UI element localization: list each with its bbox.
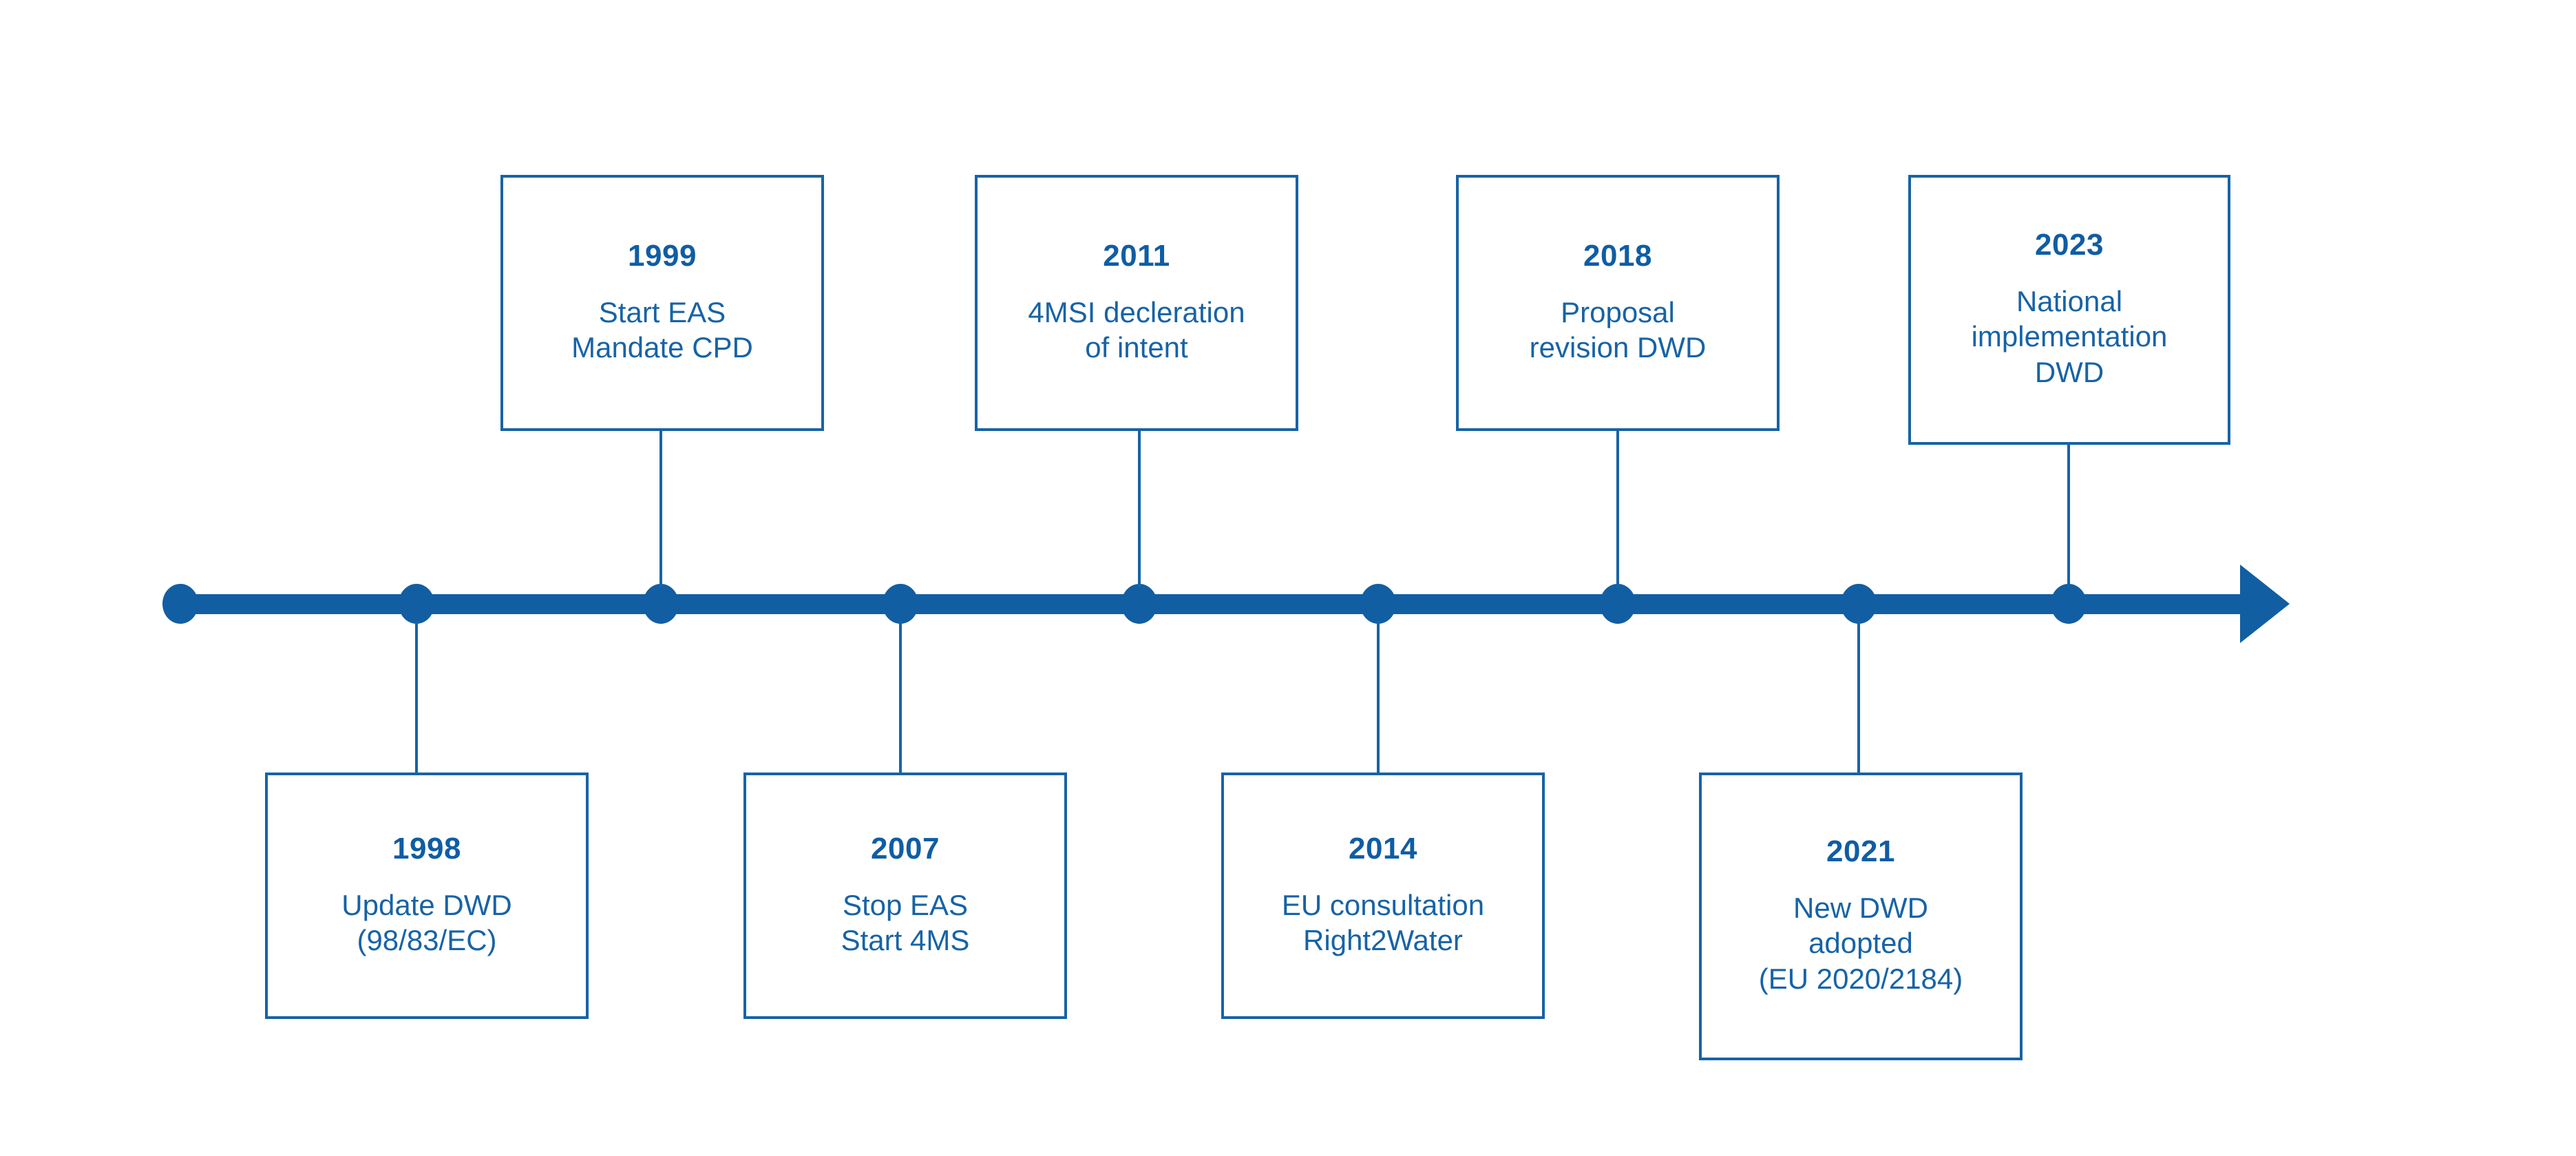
event-year-2007: 2007 [871, 834, 940, 864]
connector-2014 [1377, 621, 1380, 773]
timeline-bar [180, 594, 2241, 614]
event-year-2021: 2021 [1826, 837, 1895, 867]
connector-1998 [415, 621, 418, 773]
event-year-1998: 1998 [392, 834, 461, 864]
timeline-node-2[interactable] [643, 584, 679, 624]
timeline-node-3[interactable] [883, 584, 918, 624]
event-description-2021: New DWD adopted (EU 2020/2184) [1759, 890, 1963, 996]
event-description-2007: Stop EAS Start 4MS [841, 887, 970, 958]
event-description-2011: 4MSI decleration of intent [1028, 295, 1245, 365]
event-box-2021[interactable]: 2021 New DWD adopted (EU 2020/2184) [1699, 773, 2023, 1060]
event-year-2011: 2011 [1103, 241, 1170, 271]
event-year-1999: 1999 [628, 241, 697, 271]
timeline-node-6[interactable] [1600, 584, 1636, 624]
event-year-2014: 2014 [1349, 834, 1417, 864]
event-description-1998: Update DWD (98/83/EC) [341, 887, 511, 958]
event-box-2011[interactable]: 2011 4MSI decleration of intent [975, 175, 1298, 431]
connector-2021 [1857, 621, 1860, 773]
timeline-arrow-icon [2240, 565, 2290, 643]
timeline-node-1[interactable] [399, 584, 434, 624]
event-year-2023: 2023 [2035, 230, 2104, 260]
connector-2007 [899, 621, 902, 773]
event-description-1999: Start EAS Mandate CPD [571, 295, 753, 365]
connector-2018 [1616, 430, 1619, 587]
event-box-2007[interactable]: 2007 Stop EAS Start 4MS [743, 773, 1067, 1019]
event-box-1999[interactable]: 1999 Start EAS Mandate CPD [500, 175, 824, 431]
timeline-node-8[interactable] [2051, 584, 2087, 624]
event-description-2023: National implementation DWD [1972, 284, 2168, 390]
connector-1999 [659, 430, 662, 587]
connector-2011 [1138, 430, 1141, 587]
event-year-2018: 2018 [1583, 241, 1652, 271]
event-box-1998[interactable]: 1998 Update DWD (98/83/EC) [265, 773, 589, 1019]
event-box-2014[interactable]: 2014 EU consultation Right2Water [1221, 773, 1545, 1019]
event-description-2014: EU consultation Right2Water [1282, 887, 1484, 958]
connector-2023 [2067, 443, 2070, 587]
event-box-2023[interactable]: 2023 National implementation DWD [1908, 175, 2230, 445]
event-box-2018[interactable]: 2018 Proposal revision DWD [1456, 175, 1780, 431]
timeline-node-0[interactable] [162, 584, 198, 624]
timeline-node-5[interactable] [1360, 584, 1396, 624]
timeline-node-7[interactable] [1841, 584, 1877, 624]
timeline-node-4[interactable] [1121, 584, 1157, 624]
timeline-diagram: 1999 Start EAS Mandate CPD 2011 4MSI dec… [0, 0, 2576, 1156]
event-description-2018: Proposal revision DWD [1530, 295, 1707, 365]
